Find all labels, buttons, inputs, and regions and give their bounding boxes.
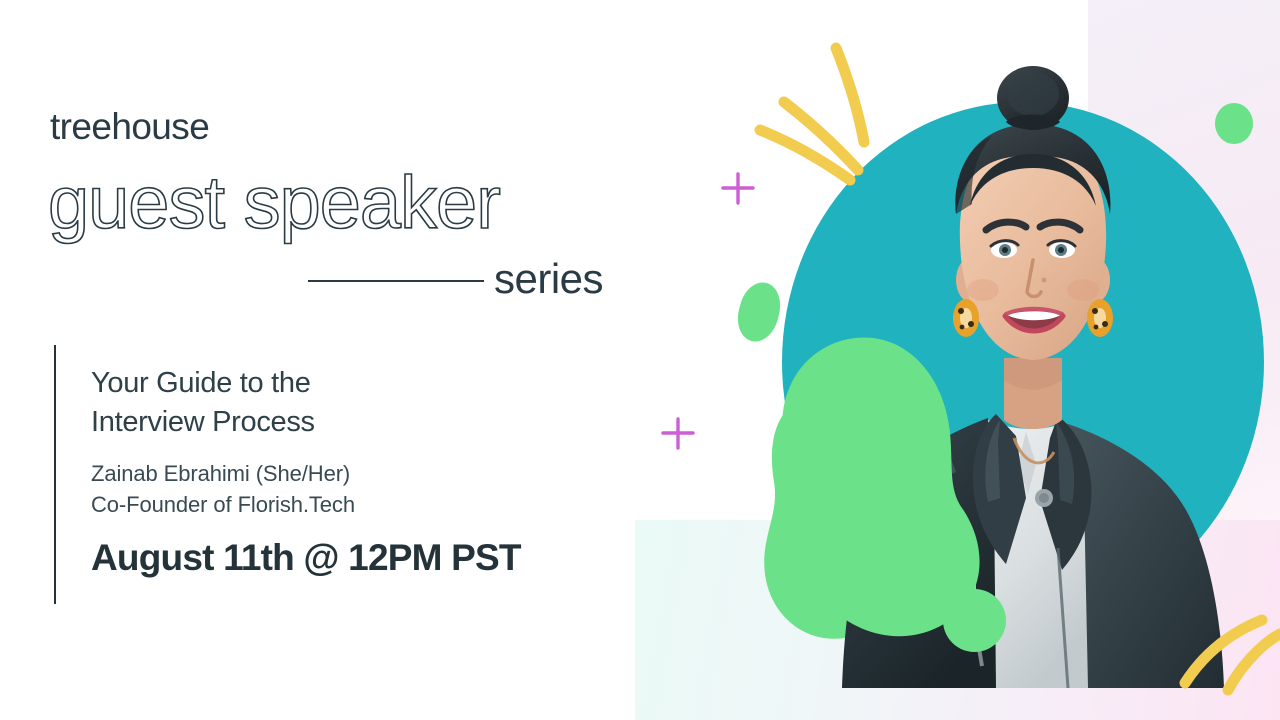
event-title: Your Guide to the Interview Process bbox=[91, 364, 611, 441]
series-divider bbox=[308, 280, 484, 282]
info-accent-bar bbox=[54, 345, 56, 604]
green-circle-bottom-icon bbox=[943, 589, 1006, 652]
promo-slide: treehouse guest speaker series Your Guid… bbox=[0, 0, 1280, 720]
event-info: Your Guide to the Interview Process Zain… bbox=[91, 364, 611, 576]
speaker-role: Co-Founder of Florish.Tech bbox=[91, 489, 611, 520]
event-title-line2: Interview Process bbox=[91, 406, 315, 438]
speaker-portrait bbox=[800, 28, 1270, 688]
speaker-name: Zainab Ebrahimi (She/Her) bbox=[91, 458, 611, 489]
magenta-plus-icon bbox=[663, 419, 693, 448]
series-label: series bbox=[494, 258, 603, 300]
svg-text:guest speaker: guest speaker bbox=[48, 161, 500, 244]
magenta-plus-icon bbox=[723, 174, 753, 203]
brand-wordmark: treehouse bbox=[50, 108, 209, 145]
headline-outline-text: guest speaker bbox=[38, 160, 658, 250]
event-title-line1: Your Guide to the bbox=[91, 367, 311, 399]
green-pill-shape bbox=[732, 278, 785, 346]
event-datetime: August 11th @ 12PM PST bbox=[91, 539, 611, 576]
